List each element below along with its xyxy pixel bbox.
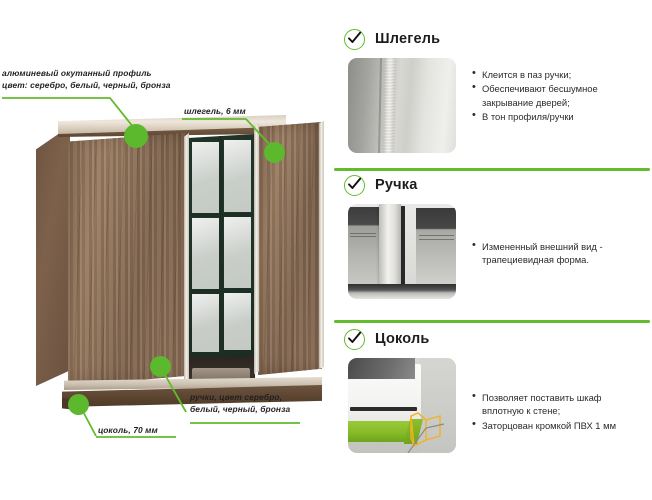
- wardrobe-illustration-pane: алюминевый окутанный профиль цвет: сереб…: [0, 0, 332, 500]
- bullet-item: Клеится в паз ручки;: [482, 68, 642, 81]
- bullet-item: Заторцован кромкой ПВХ 1 мм: [482, 419, 642, 432]
- handle-close-up-photo: [348, 204, 456, 299]
- check-circle-icon: [344, 175, 365, 196]
- plinth-close-up-photo: [348, 358, 456, 453]
- shlegel-brush-seal-photo: [348, 58, 456, 153]
- infographic-page: алюминевый окутанный профиль цвет: сереб…: [0, 0, 652, 500]
- callout-dot-profile: [124, 124, 148, 148]
- feature-header-shlegel: Шлегель: [332, 26, 652, 52]
- bullet-item: Позволяет поставить шкаф вплотную к стен…: [482, 391, 642, 418]
- feature-section-handle: Ручка Измененный внешний вид - трапециев…: [332, 172, 652, 299]
- callout-label-plinth: цоколь, 70 мм: [98, 425, 158, 437]
- feature-section-shlegel: Шлегель Клеится в паз ручки; Обеспечиваю…: [332, 26, 652, 153]
- callout-label-handles: ручки, цвет серебро, белый, черный, брон…: [190, 392, 290, 415]
- callout-dot-plinth: [68, 394, 89, 415]
- feature-title-shlegel: Шлегель: [375, 31, 440, 47]
- section-divider-2: [334, 320, 650, 323]
- bullet-item: В тон профиля/ручки: [482, 110, 642, 123]
- feature-body-shlegel: Клеится в паз ручки; Обеспечивают бесшум…: [332, 58, 652, 153]
- feature-title-plinth: Цоколь: [375, 331, 430, 347]
- feature-header-plinth: Цоколь: [332, 326, 652, 352]
- feature-bullets-shlegel: Клеится в паз ручки; Обеспечивают бесшум…: [456, 68, 652, 125]
- feature-title-handle: Ручка: [375, 177, 417, 193]
- callout-dot-shlegel: [264, 142, 285, 163]
- feature-body-plinth: Позволяет поставить шкаф вплотную к стен…: [332, 358, 652, 453]
- check-circle-icon: [344, 29, 365, 50]
- feature-bullets-plinth: Позволяет поставить шкаф вплотную к стен…: [456, 391, 652, 433]
- callout-label-shlegel: шлегель, 6 мм: [184, 106, 246, 118]
- bullet-item: Обеспечивают бесшумное закрывание дверей…: [482, 82, 642, 109]
- features-pane: Шлегель Клеится в паз ручки; Обеспечиваю…: [332, 0, 652, 500]
- callout-label-profile: алюминевый окутанный профиль цвет: сереб…: [2, 68, 170, 91]
- callout-dot-handles: [150, 356, 171, 377]
- bullet-item: Измененный внешний вид - трапециевидная …: [482, 240, 642, 267]
- feature-body-handle: Измененный внешний вид - трапециевидная …: [332, 204, 652, 299]
- section-divider-1: [334, 168, 650, 171]
- check-circle-icon: [344, 329, 365, 350]
- feature-header-handle: Ручка: [332, 172, 652, 198]
- feature-section-plinth: Цоколь По: [332, 326, 652, 453]
- feature-bullets-handle: Измененный внешний вид - трапециевидная …: [456, 240, 652, 268]
